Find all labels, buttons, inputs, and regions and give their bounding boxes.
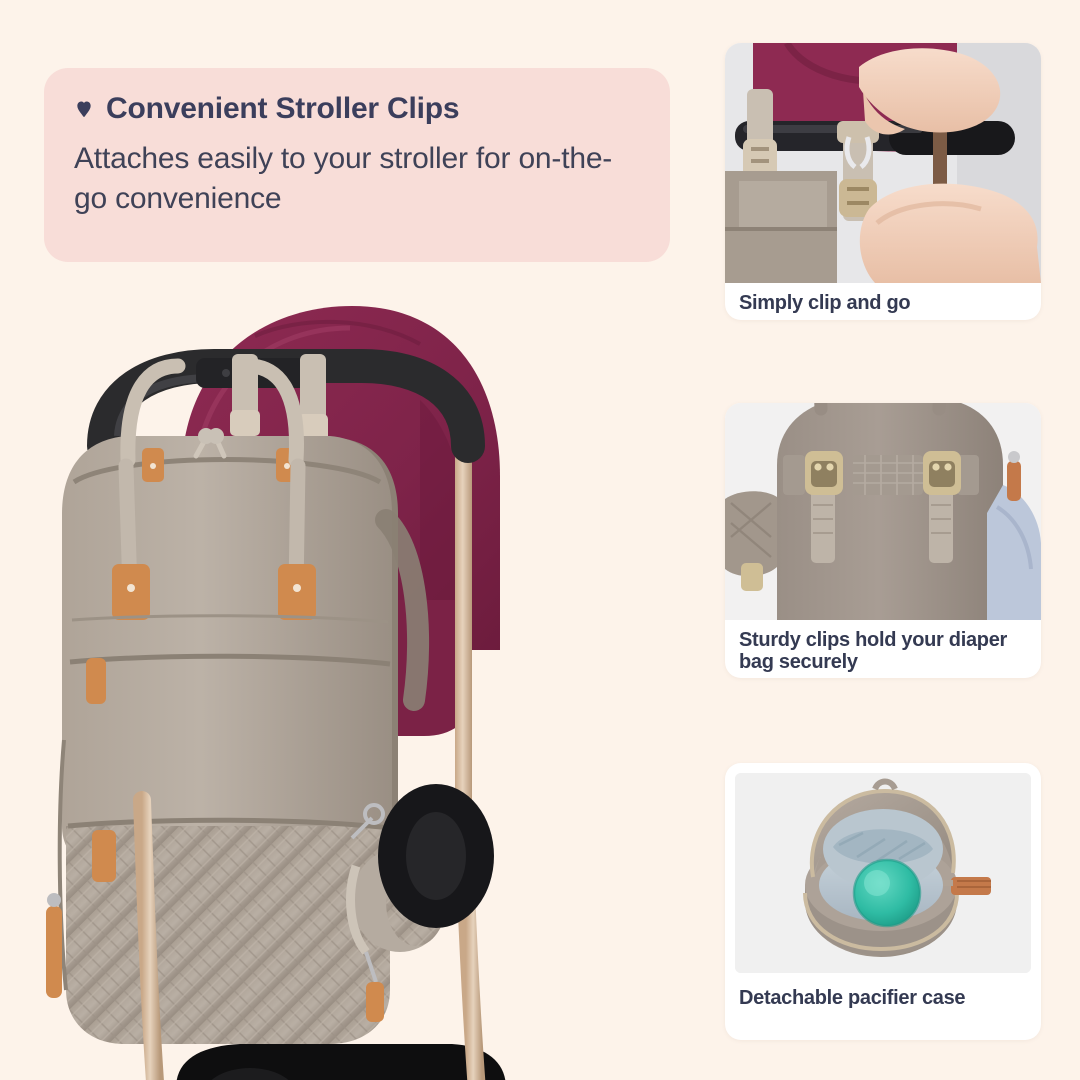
- hero-product-image: [0, 270, 706, 1080]
- headline-banner: Convenient Stroller Clips Attaches easil…: [44, 68, 670, 262]
- card-image-sturdy-clips: [725, 403, 1041, 620]
- headline-subtitle: Attaches easily to your stroller for on-…: [74, 139, 636, 219]
- zipper-pull-left: [86, 658, 106, 704]
- card-caption-sturdy-clips: Sturdy clips hold your diaper bag secure…: [725, 620, 1041, 674]
- feature-card-clip-and-go[interactable]: Simply clip and go: [725, 43, 1041, 320]
- card-caption-pacifier-case: Detachable pacifier case: [725, 973, 1041, 1009]
- side-zipper-pull: [46, 906, 62, 998]
- frame-right-leg: [466, 890, 482, 1080]
- headline-title: Convenient Stroller Clips: [106, 92, 459, 125]
- card-caption-clip-and-go: Simply clip and go: [725, 283, 1041, 314]
- heart-icon: [74, 99, 94, 119]
- card-image-pacifier-case: [735, 773, 1031, 973]
- feature-card-column: Simply clip and go: [725, 0, 1041, 1080]
- zipper-pull-lower: [92, 830, 116, 882]
- left-column: Convenient Stroller Clips Attaches easil…: [0, 0, 706, 1080]
- feature-card-sturdy-clips[interactable]: Sturdy clips hold your diaper bag secure…: [725, 403, 1041, 678]
- headline-row: Convenient Stroller Clips: [74, 92, 636, 125]
- pacifier-case-tassel: [366, 982, 384, 1022]
- card-image-clip-and-go: [725, 43, 1041, 283]
- backpack-body: [62, 436, 392, 870]
- feature-card-pacifier-case[interactable]: Detachable pacifier case: [725, 763, 1041, 1040]
